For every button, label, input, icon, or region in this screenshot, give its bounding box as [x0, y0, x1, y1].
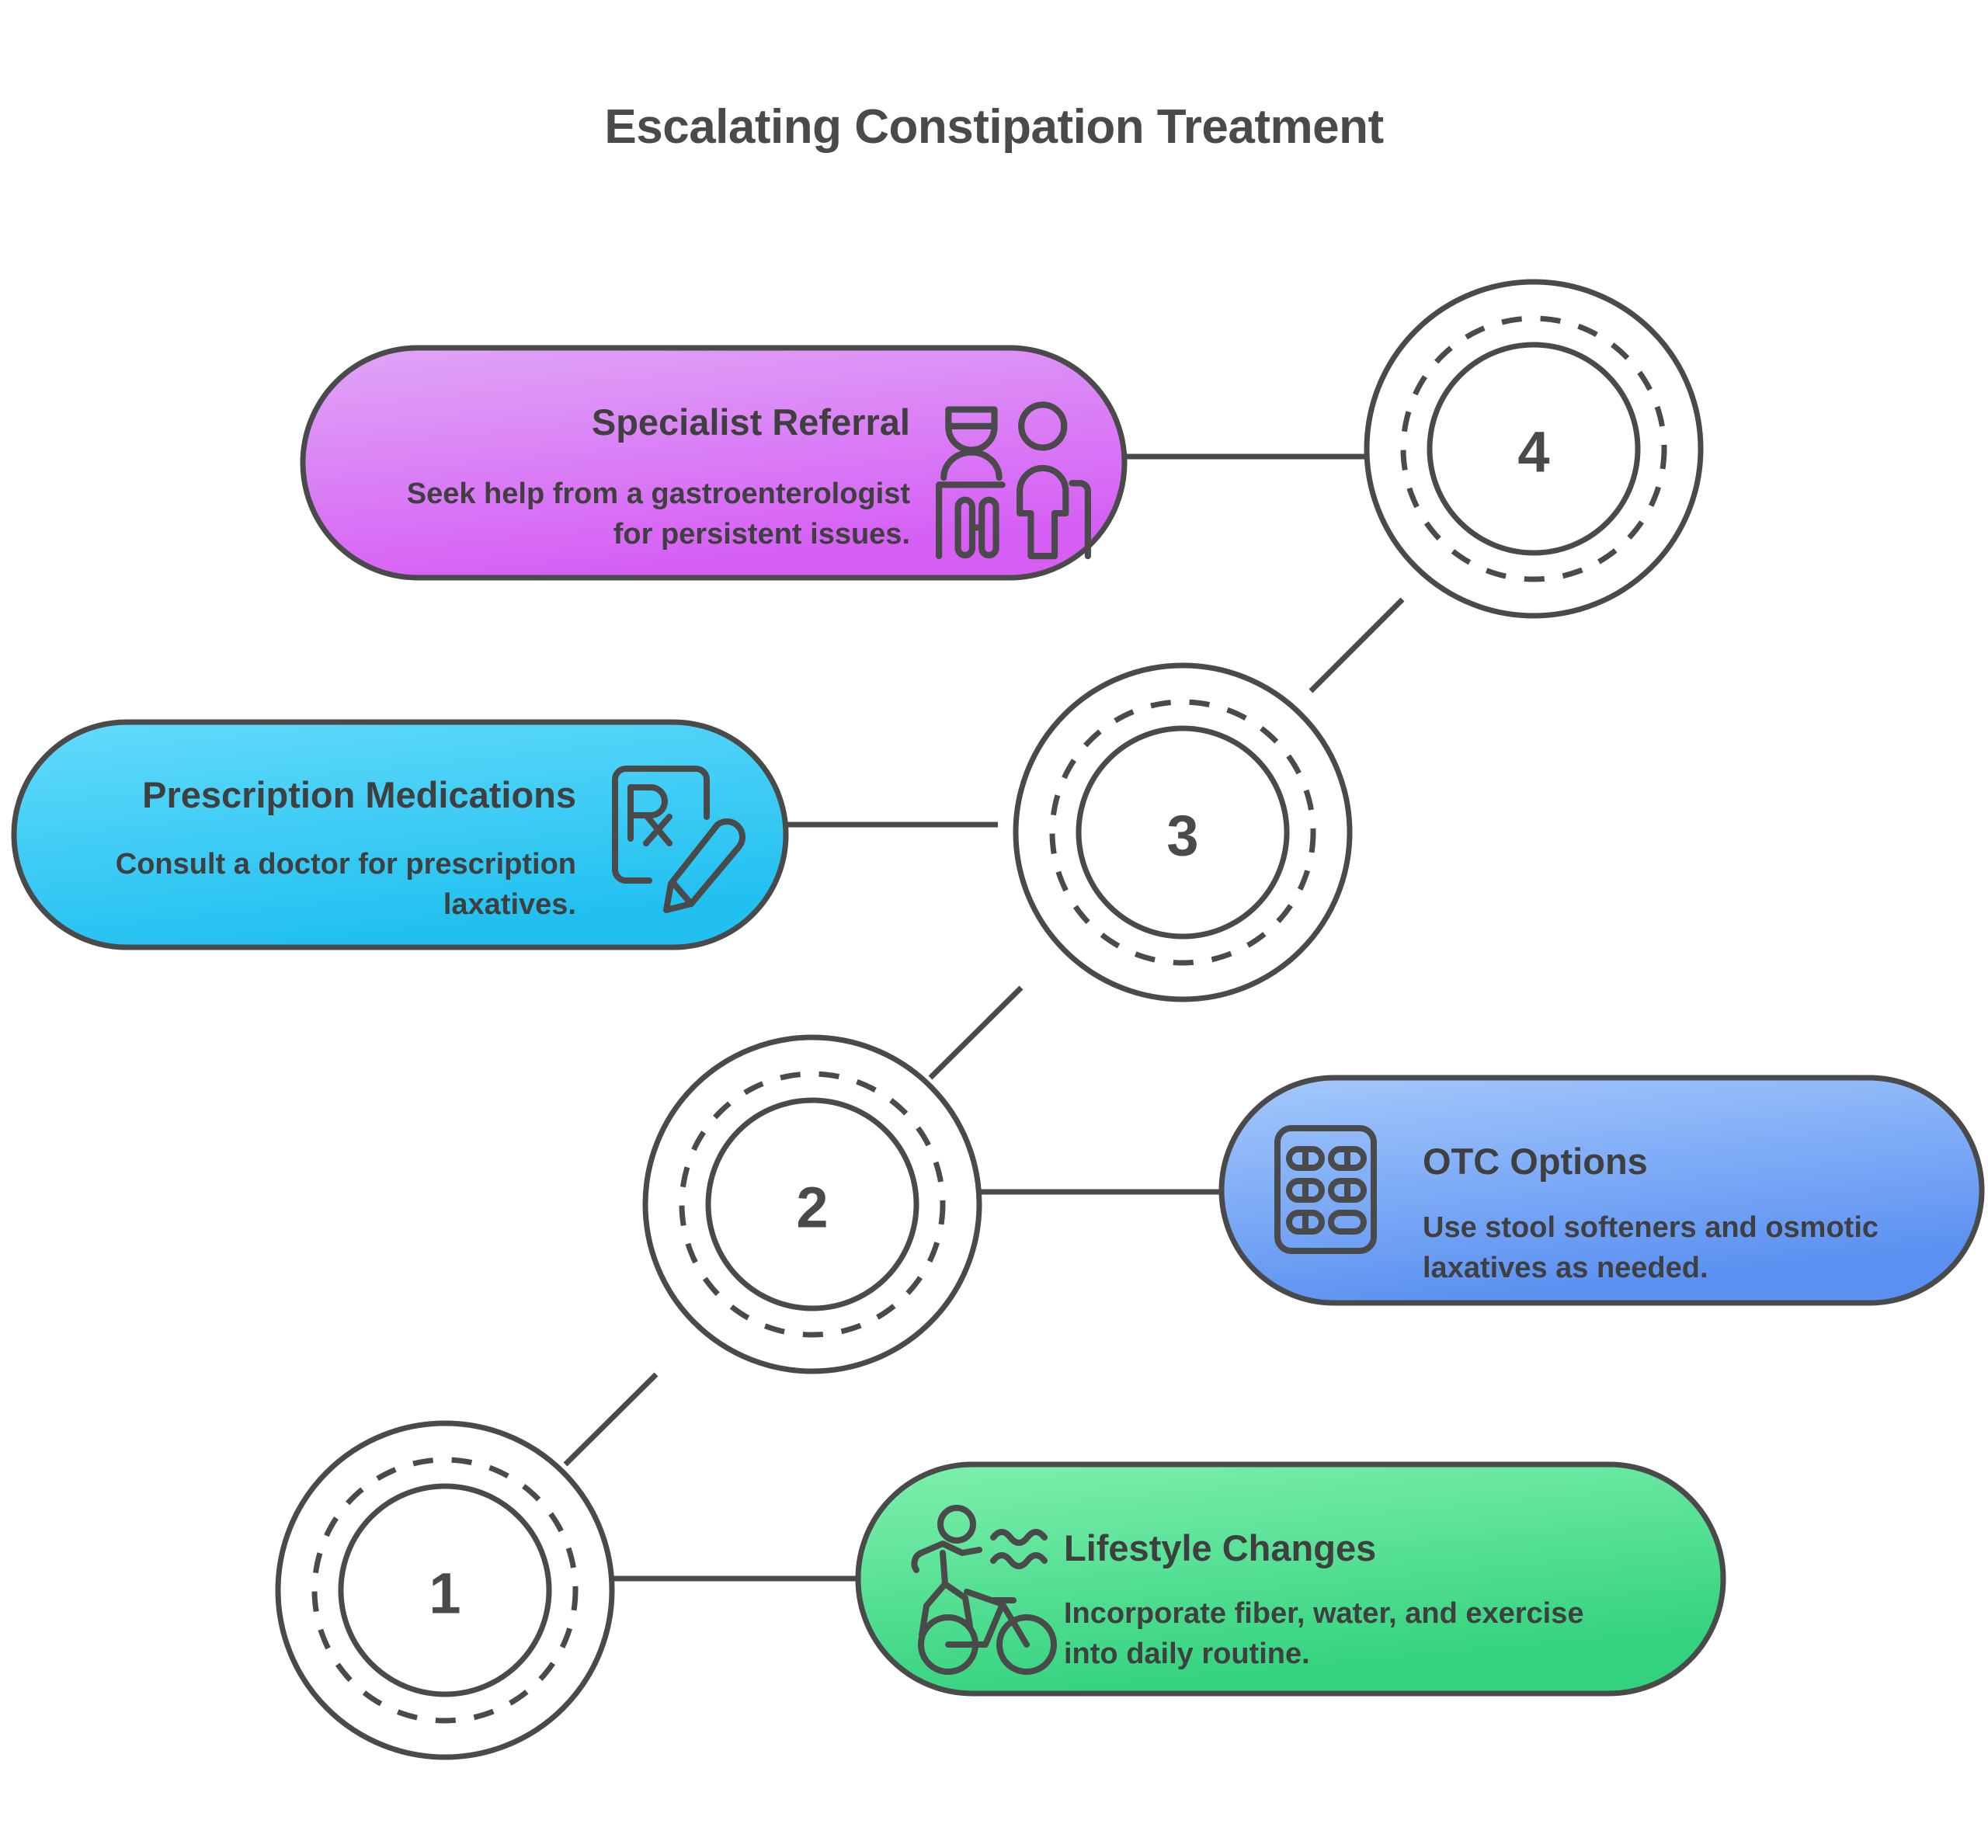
step-node-2[interactable]: 2	[645, 1037, 979, 1371]
node-4-number: 4	[1517, 420, 1549, 485]
card-lifestyle-changes[interactable]: Lifestyle Changes Incorporate fiber, wat…	[858, 1464, 1723, 1693]
step-node-3[interactable]: 3	[1016, 665, 1350, 999]
connector-node3-to-node4	[1311, 599, 1402, 691]
card-3-background	[14, 722, 786, 947]
node-2-number: 2	[796, 1176, 828, 1240]
connector-node1-to-node2	[565, 1374, 656, 1464]
card-3-description-line2: laxatives.	[443, 888, 576, 921]
step-node-4[interactable]: 4	[1367, 282, 1701, 616]
escalating-treatment-flow-diagram: 1 2 3 4 Specialist Referral Seek he	[0, 0, 1988, 1848]
infographic-canvas: Escalating Constipation Treatment	[0, 0, 1988, 1848]
connectors-layer	[565, 457, 1402, 1579]
card-4-description-line1: Seek help from a gastroenterologist	[407, 478, 911, 510]
step-node-1[interactable]: 1	[278, 1423, 612, 1757]
card-1-description-line1: Incorporate fiber, water, and exercise	[1064, 1597, 1584, 1630]
card-1-description-line2: into daily routine.	[1064, 1638, 1310, 1670]
card-4-description-line2: for persistent issues.	[613, 518, 910, 551]
card-3-title: Prescription Medications	[142, 774, 576, 815]
node-1-number: 1	[429, 1561, 461, 1626]
card-specialist-referral[interactable]: Specialist Referral Seek help from a gas…	[303, 348, 1124, 578]
card-4-title: Specialist Referral	[592, 401, 910, 443]
card-2-description-line2: laxatives as needed.	[1423, 1252, 1708, 1284]
card-otc-options[interactable]: OTC Options Use stool softeners and osmo…	[1222, 1078, 1982, 1303]
card-2-description-line1: Use stool softeners and osmotic	[1423, 1211, 1879, 1244]
node-3-number: 3	[1166, 804, 1198, 868]
connector-node2-to-node3	[930, 988, 1021, 1078]
card-2-title: OTC Options	[1423, 1141, 1648, 1182]
card-1-title: Lifestyle Changes	[1064, 1527, 1376, 1568]
card-3-description-line1: Consult a doctor for prescription	[116, 848, 576, 881]
card-prescription-medications[interactable]: Prescription Medications Consult a docto…	[14, 722, 786, 947]
